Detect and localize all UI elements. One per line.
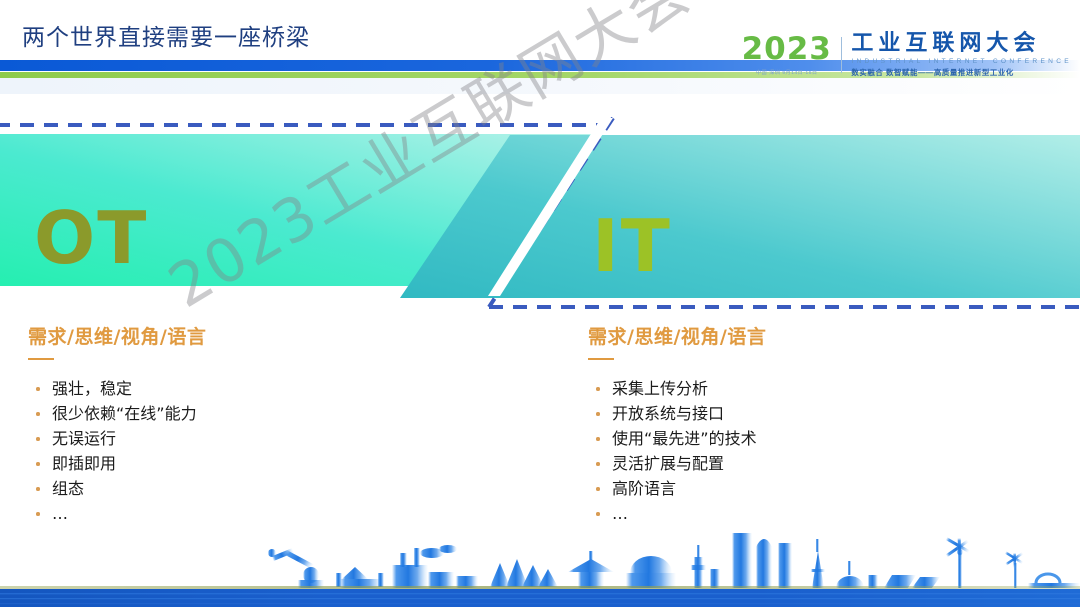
list-item: 无误运行 xyxy=(28,426,448,451)
ot-label: OT xyxy=(34,196,148,280)
logo-date-line: 中国·深圳 9月14日-16日 xyxy=(742,69,832,76)
logo-name-cn: 工业互联网大会 xyxy=(851,33,1072,55)
pylon-group-icon xyxy=(490,559,558,587)
wind-turbine-icon xyxy=(1005,551,1023,588)
ot-column: 需求/思维/视角/语言 强壮，稳定 很少依赖“在线”能力 无误运行 即插即用 组… xyxy=(28,322,448,526)
ot-column-heading: 需求/思维/视角/语言 xyxy=(28,322,448,349)
factory-icon xyxy=(392,545,478,588)
list-item: 高阶语言 xyxy=(588,476,1008,501)
list-item: 强壮，稳定 xyxy=(28,376,448,401)
pagoda-icon xyxy=(568,551,614,588)
it-column: 需求/思维/视角/语言 采集上传分析 开放系统与接口 使用“最先进”的技术 灵活… xyxy=(588,322,1008,526)
ot-it-band-area: OT IT xyxy=(0,110,1080,310)
list-item: 组态 xyxy=(28,476,448,501)
tower-icon xyxy=(691,545,720,588)
page-title: 两个世界直接需要一座桥梁 xyxy=(22,18,310,52)
it-label: IT xyxy=(592,204,672,288)
footer-skyline xyxy=(0,517,1080,607)
it-band-shape xyxy=(400,135,1080,298)
list-item: 使用“最先进”的技术 xyxy=(588,426,1008,451)
robot-arm-icon xyxy=(268,548,324,588)
ot-bullet-list: 强壮，稳定 很少依赖“在线”能力 无误运行 即插即用 组态 … xyxy=(28,376,448,526)
dome-icon xyxy=(836,561,878,588)
list-item: 很少依赖“在线”能力 xyxy=(28,401,448,426)
stadium-icon xyxy=(626,556,676,588)
it-bullet-list: 采集上传分析 开放系统与接口 使用“最先进”的技术 灵活扩展与配置 高阶语言 … xyxy=(588,376,1008,526)
pipe-icon xyxy=(336,567,384,588)
skyline-silhouette-group xyxy=(268,533,1080,588)
header-divider-fade xyxy=(0,78,1080,94)
logo-name-en: INDUSTRIAL INTERNET CONFERENCE xyxy=(851,59,1072,66)
logo-year-block: 2023 中国·深圳 9月14日-16日 xyxy=(742,34,832,76)
bridge-icon xyxy=(1028,574,1080,588)
logo-separator xyxy=(841,37,843,73)
logo-year: 2023 xyxy=(742,34,832,65)
list-item: 采集上传分析 xyxy=(588,376,1008,401)
wind-turbine-icon xyxy=(946,537,970,588)
water-body xyxy=(0,589,1080,607)
list-item: 即插即用 xyxy=(28,451,448,476)
band-shapes xyxy=(0,110,1080,310)
list-item: 灵活扩展与配置 xyxy=(588,451,1008,476)
logo-tagline: 数实融合 数智赋能——高质量推进新型工业化 xyxy=(851,69,1072,76)
logo-text-block: 工业互联网大会 INDUSTRIAL INTERNET CONFERENCE 数… xyxy=(851,33,1072,76)
skyscraper-icon xyxy=(732,533,792,588)
conference-logo: 2023 中国·深圳 9月14日-16日 工业互联网大会 INDUSTRIAL … xyxy=(742,33,1072,76)
ot-heading-rule xyxy=(28,358,54,360)
list-item: 开放系统与接口 xyxy=(588,401,1008,426)
it-heading-rule xyxy=(588,358,614,360)
lattice-tower-icon xyxy=(811,539,825,588)
it-column-heading: 需求/思维/视角/语言 xyxy=(588,322,1008,349)
